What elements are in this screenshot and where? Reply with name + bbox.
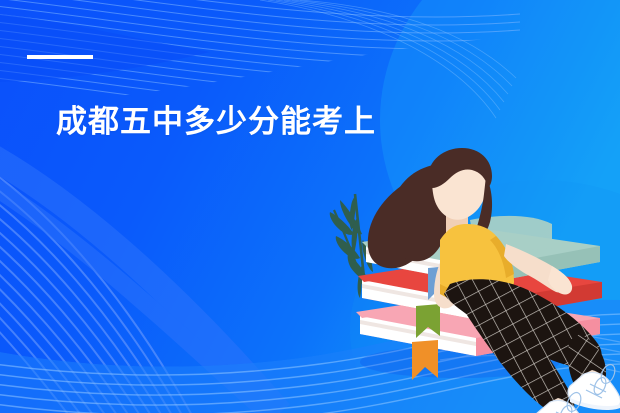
cover-banner: 成都五中多少分能考上	[0, 0, 620, 413]
title-accent-rule	[27, 55, 93, 59]
student-sitting-on-books-illustration	[300, 148, 620, 413]
page-title: 成都五中多少分能考上	[56, 102, 476, 143]
